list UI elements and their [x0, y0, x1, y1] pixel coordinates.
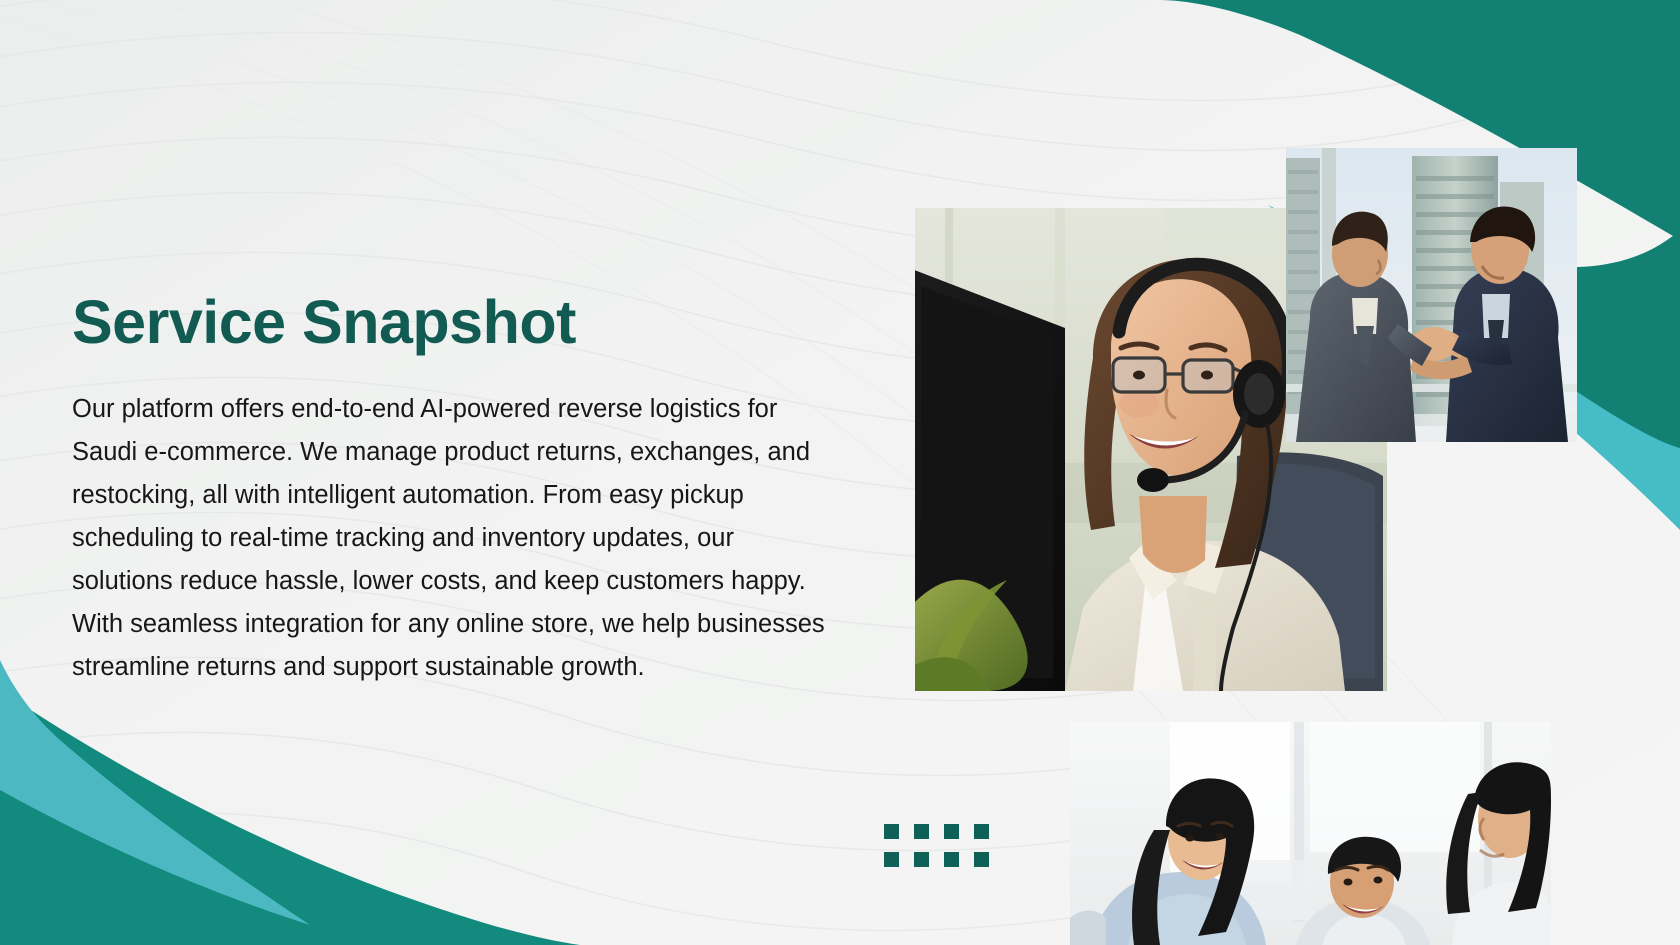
- dot-grid-decoration: [884, 824, 989, 867]
- dot-grid-square: [884, 824, 899, 839]
- slide-canvas: Service Snapshot Our platform offers end…: [0, 0, 1680, 945]
- dot-grid-square: [944, 824, 959, 839]
- dot-grid-square: [914, 824, 929, 839]
- bottom-left-light-swoosh: [0, 660, 310, 925]
- bottom-left-dark-swoosh: [0, 690, 580, 945]
- dot-grid-square: [884, 852, 899, 867]
- dot-grid-square: [944, 852, 959, 867]
- text-column: Service Snapshot Our platform offers end…: [72, 290, 832, 689]
- page-title: Service Snapshot: [72, 290, 832, 354]
- photo-handshake: [1286, 148, 1577, 442]
- dot-grid-square: [974, 824, 989, 839]
- photo-team: [1070, 722, 1551, 945]
- dot-grid-square: [914, 852, 929, 867]
- dot-grid-square: [974, 852, 989, 867]
- body-paragraph: Our platform offers end-to-end AI-powere…: [72, 388, 827, 689]
